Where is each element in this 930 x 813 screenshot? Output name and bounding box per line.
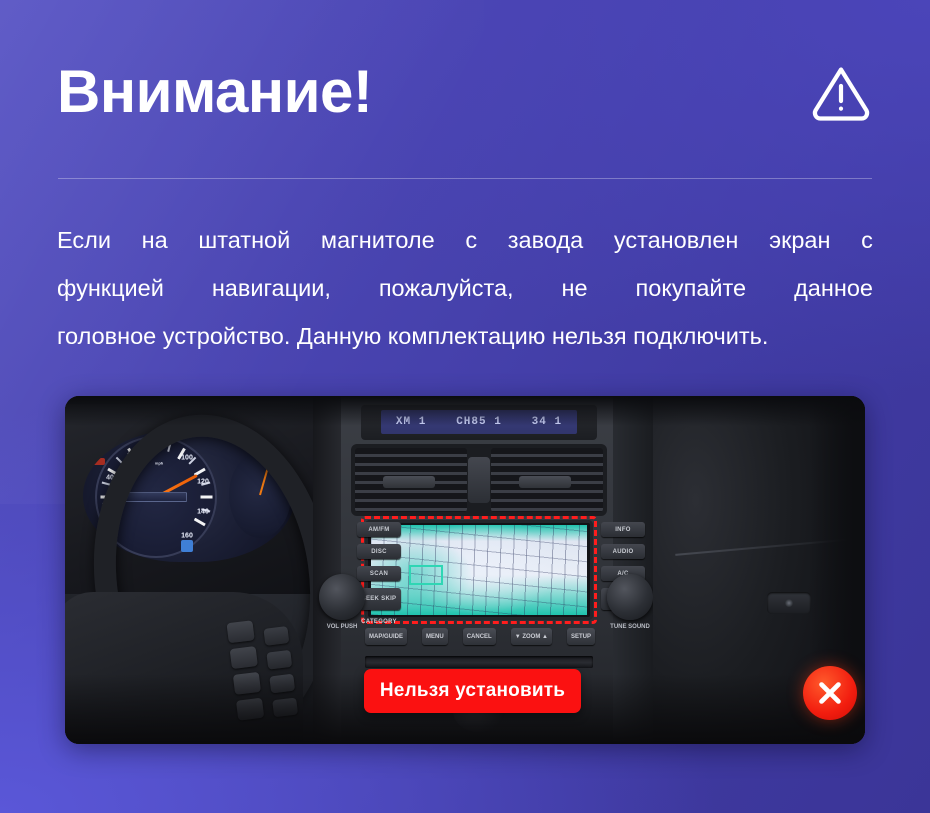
photo-content: 0 20 40 60 80 100 120 140 160 mph — [65, 396, 865, 744]
header-divider — [58, 178, 872, 179]
hazard-button[interactable] — [468, 457, 490, 503]
warning-telltale-icon — [87, 458, 105, 465]
zoom-button[interactable]: ▼ ZOOM ▲ — [511, 628, 552, 645]
audio-button[interactable]: AUDIO — [601, 544, 645, 559]
glovebox-latch[interactable] — [767, 592, 811, 614]
word: функцией — [57, 264, 164, 312]
word: покупайте — [636, 264, 747, 312]
head-unit-left-buttons[interactable]: AM/FM DISC SCAN SEEK SKIP CATEGORY — [357, 522, 401, 634]
scan-button[interactable]: SCAN — [357, 566, 401, 581]
map-selection-box — [409, 565, 443, 585]
cancel-button[interactable]: CANCEL — [463, 628, 496, 645]
word: завода — [508, 216, 583, 264]
warning-slide: Внимание! Если на штатной магнитоле с за… — [0, 0, 930, 813]
dashboard-photo: 0 20 40 60 80 100 120 140 160 mph — [65, 396, 865, 744]
volume-knob-label: VOL PUSH — [315, 624, 369, 632]
word: Если — [57, 216, 111, 264]
page-title: Внимание! — [57, 62, 372, 122]
air-vents — [351, 444, 607, 516]
word: на — [142, 216, 168, 264]
head-unit-bottom-buttons[interactable]: MAP/GUIDE MENU CANCEL ▼ ZOOM ▲ SETUP — [365, 628, 595, 645]
tune-knob[interactable] — [607, 574, 653, 620]
map-road-network — [371, 525, 587, 615]
word: штатной — [198, 216, 290, 264]
photo-top-vignette — [65, 396, 865, 426]
setup-button[interactable]: SETUP — [567, 628, 595, 645]
word: пожалуйста, — [379, 264, 514, 312]
header: Внимание! — [57, 46, 873, 138]
body-line-1: Если на штатной магнитоле с завода устан… — [57, 216, 873, 264]
am-fm-button[interactable]: AM/FM — [357, 522, 401, 537]
word: с — [465, 216, 477, 264]
body-line-3: головное устройство. Данную комплектацию… — [57, 312, 873, 360]
air-vent-left — [355, 448, 467, 512]
info-button[interactable]: INFO — [601, 522, 645, 537]
word: не — [562, 264, 588, 312]
warning-triangle-icon — [809, 60, 873, 124]
map-guide-button[interactable]: MAP/GUIDE — [365, 628, 407, 645]
word: данное — [794, 264, 873, 312]
cannot-install-badge: Нельзя установить — [364, 669, 581, 713]
glovebox-lock-icon — [785, 599, 793, 607]
menu-button[interactable]: MENU — [422, 628, 448, 645]
word: с — [861, 216, 873, 264]
warning-body-text: Если на штатной магнитоле с завода устан… — [57, 216, 873, 360]
volume-knob[interactable] — [319, 574, 365, 620]
word: установлен — [614, 216, 739, 264]
air-vent-right — [491, 448, 603, 512]
tune-knob-label: TUNE SOUND — [603, 624, 657, 632]
cannot-install-label: Нельзя установить — [380, 680, 565, 702]
word: экран — [769, 216, 830, 264]
cd-slot[interactable] — [365, 656, 593, 668]
body-line-2: функцией навигации, пожалуйста, не покуп… — [57, 264, 873, 312]
nav-screen-display: 250mi — [371, 525, 587, 615]
word: магнитоле — [321, 216, 435, 264]
disc-aux-button[interactable]: DISC — [357, 544, 401, 559]
red-x-circle-icon — [803, 666, 857, 720]
word: навигации, — [212, 264, 331, 312]
